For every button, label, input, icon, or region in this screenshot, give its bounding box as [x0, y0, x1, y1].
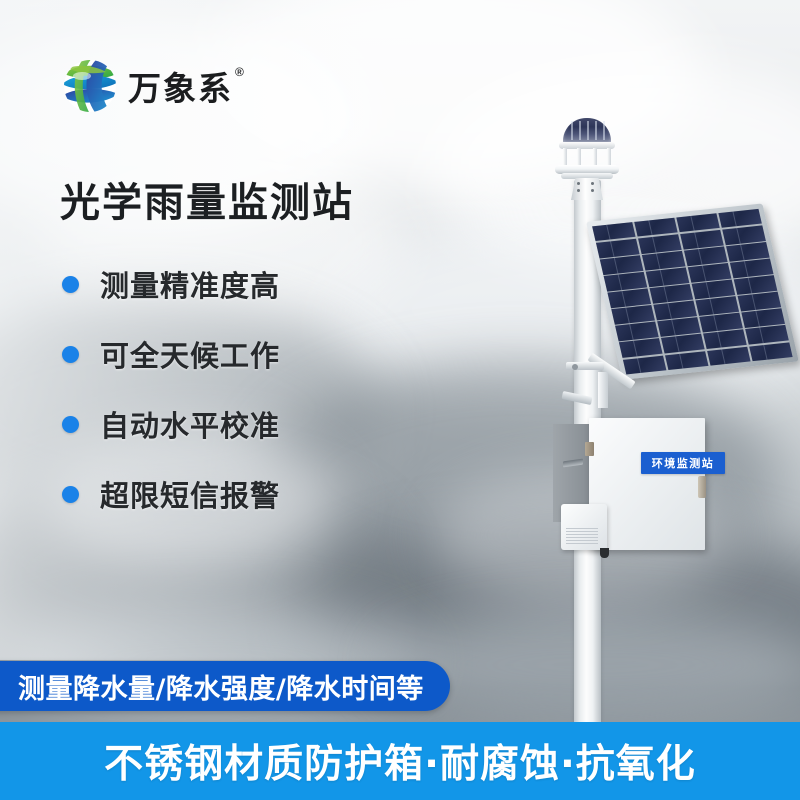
- product-poster: 环境监测站: [0, 0, 800, 800]
- list-item: 可全天候工作: [62, 328, 280, 380]
- list-item: 测量精准度高: [62, 258, 280, 310]
- feature-label: 可全天候工作: [100, 333, 280, 375]
- page-title: 光学雨量监测站: [60, 170, 354, 228]
- bottom-banner: 不锈钢材质防护箱·耐腐蚀·抗氧化: [0, 722, 800, 800]
- bullet-dot-icon: [62, 276, 79, 293]
- feature-label: 自动水平校准: [100, 403, 280, 445]
- bullet-dot-icon: [62, 416, 79, 433]
- list-item: 超限短信报警: [62, 468, 280, 520]
- feature-list: 测量精准度高 可全天候工作 自动水平校准 超限短信报警: [62, 258, 280, 538]
- brand-name: 万象系: [128, 62, 233, 110]
- feature-label: 超限短信报警: [100, 473, 280, 515]
- bullet-dot-icon: [62, 346, 79, 363]
- trademark-symbol: ®: [235, 65, 244, 79]
- feature-label: 测量精准度高: [100, 263, 280, 305]
- swirling-globe-logo-icon: [62, 58, 118, 114]
- brand-logo: 万象系 ®: [62, 58, 252, 114]
- list-item: 自动水平校准: [62, 398, 280, 450]
- capability-banner: 测量降水量/降水强度/降水时间等: [0, 661, 450, 711]
- bottom-banner-text: 不锈钢材质防护箱·耐腐蚀·抗氧化: [104, 733, 696, 789]
- bullet-dot-icon: [62, 486, 79, 503]
- capability-banner-text: 测量降水量/降水强度/降水时间等: [18, 667, 424, 706]
